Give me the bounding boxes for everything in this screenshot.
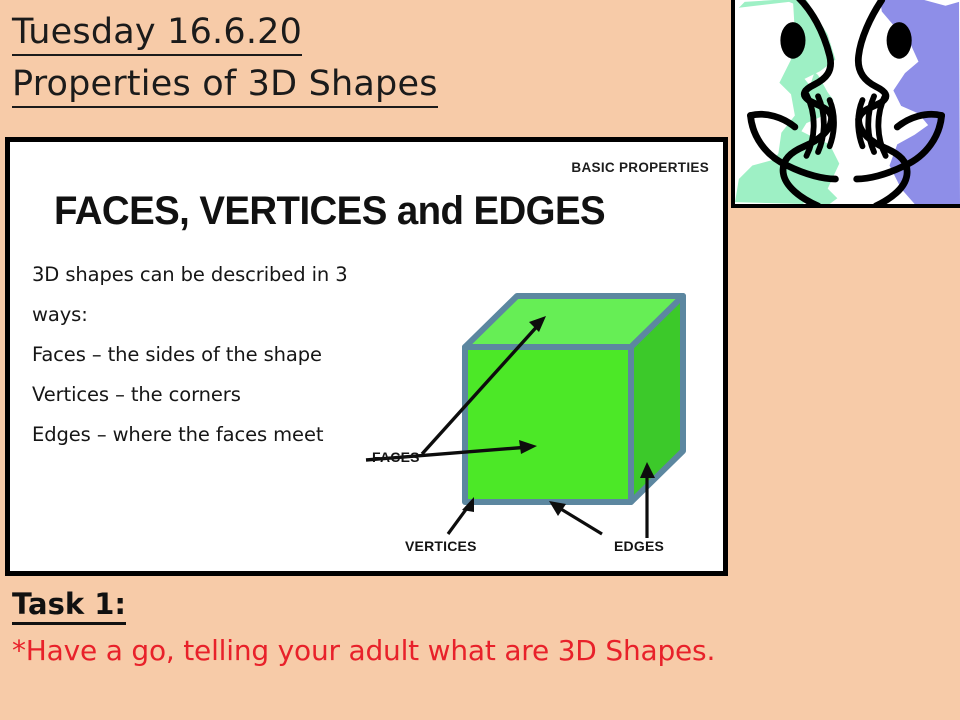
clipart-panel	[731, 0, 960, 208]
task-block: Task 1: *Have a go, telling your adult w…	[12, 585, 942, 669]
sound-wave-left-3	[806, 94, 813, 156]
edges-callout-label: EDGES	[614, 538, 664, 554]
faces-callout-label: FACES	[372, 449, 420, 465]
edges-arrow-bottom-line	[556, 506, 602, 534]
heading-topic-line: Properties of 3D Shapes	[12, 58, 712, 110]
left-eye-icon	[780, 22, 805, 59]
task-instruction: *Have a go, telling your adult what are …	[12, 633, 942, 669]
left-lip-outline	[750, 114, 794, 127]
heading-date-text: Tuesday 16.6.20	[12, 12, 302, 56]
vertices-callout-label: VERTICES	[405, 538, 477, 554]
slide-canvas: Tuesday 16.6.20 Properties of 3D Shapes	[0, 0, 960, 720]
vertices-callout-arrow	[448, 497, 474, 534]
task-label-line: Task 1:	[12, 585, 942, 623]
slide-heading: Tuesday 16.6.20 Properties of 3D Shapes	[12, 6, 712, 110]
cube-diagram-svg: FACES VERTICES EDGES	[10, 142, 723, 571]
two-faces-talking-icon	[735, 0, 960, 204]
cube-diagram: FACES VERTICES EDGES	[10, 142, 723, 571]
heading-topic-text: Properties of 3D Shapes	[12, 64, 438, 108]
task-label-text: Task 1:	[12, 587, 126, 625]
cube-front-face	[465, 347, 631, 502]
heading-date-line: Tuesday 16.6.20	[12, 6, 712, 58]
sound-wave-right-2	[868, 96, 874, 152]
right-eye-icon	[887, 22, 912, 59]
content-box: BASIC PROPERTIES FACES, VERTICES and EDG…	[5, 137, 728, 576]
sound-wave-left-2	[818, 96, 824, 152]
sound-wave-right-3	[878, 94, 885, 156]
